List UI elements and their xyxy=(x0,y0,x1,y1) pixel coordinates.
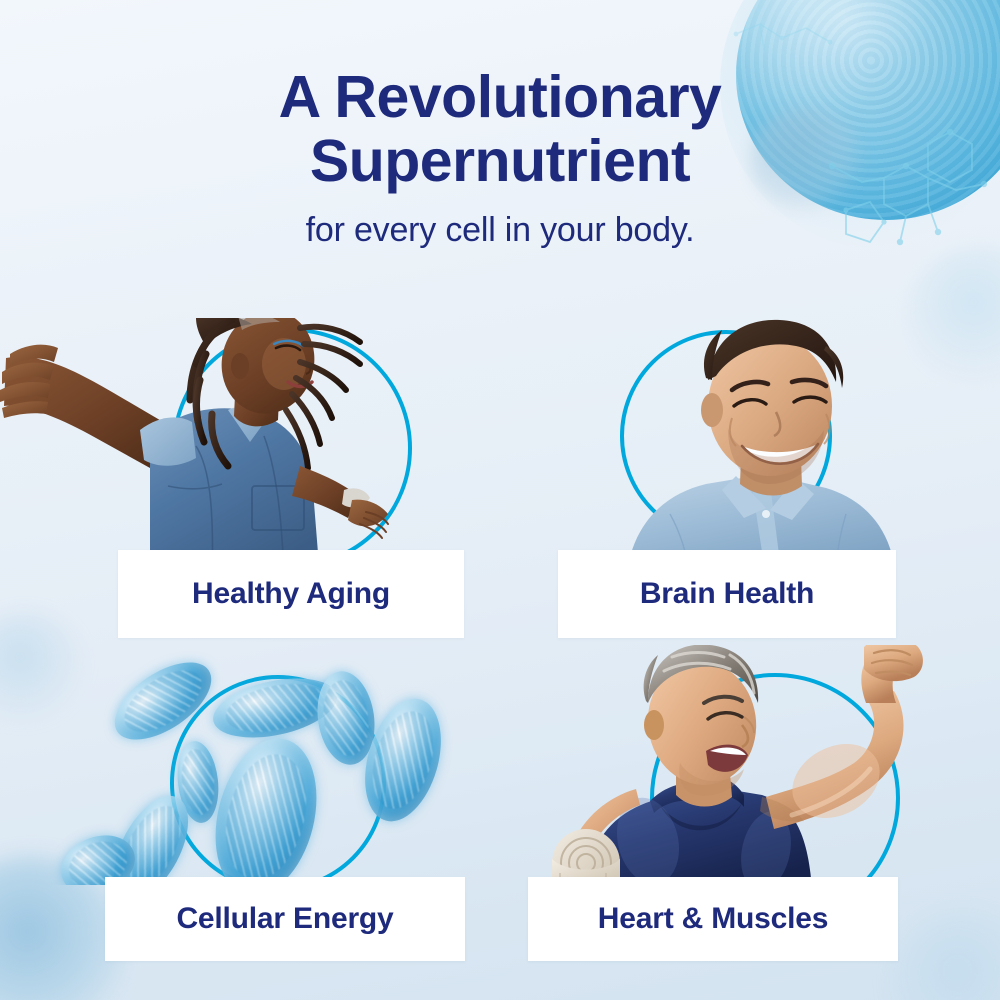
mitochondrion-icon xyxy=(102,647,225,755)
benefit-tile-cellular-energy[interactable]: Cellular Energy xyxy=(0,645,470,975)
benefit-photo-brain-health xyxy=(530,318,1000,578)
infographic-canvas: A Revolutionary Supernutrient for every … xyxy=(0,0,1000,1000)
benefit-label-card-healthy-aging[interactable]: Healthy Aging xyxy=(118,550,464,638)
headline-line-2: Supernutrient xyxy=(310,128,690,194)
headline-line-1: A Revolutionary xyxy=(279,64,722,130)
benefit-label-card-cellular-energy[interactable]: Cellular Energy xyxy=(105,877,465,961)
benefit-label-card-brain-health[interactable]: Brain Health xyxy=(558,550,896,638)
hero-header: A Revolutionary Supernutrient for every … xyxy=(0,0,1000,250)
mitochondrion-icon xyxy=(200,728,332,885)
page-title: A Revolutionary Supernutrient xyxy=(0,66,1000,193)
benefit-label-card-heart-muscles[interactable]: Heart & Muscles xyxy=(528,877,898,961)
benefit-photo-cellular-energy xyxy=(0,645,470,885)
page-subtitle: for every cell in your body. xyxy=(0,211,1000,250)
benefit-photo-heart-muscles xyxy=(530,645,1000,890)
benefit-label-text: Brain Health xyxy=(640,577,814,611)
benefit-label-text: Heart & Muscles xyxy=(598,902,828,936)
benefit-photo-healthy-aging xyxy=(0,318,470,578)
benefit-tile-healthy-aging[interactable]: Healthy Aging xyxy=(0,318,470,638)
benefit-tile-heart-muscles[interactable]: Heart & Muscles xyxy=(530,645,1000,975)
benefit-label-text: Healthy Aging xyxy=(192,577,390,611)
benefit-tile-brain-health[interactable]: Brain Health xyxy=(530,318,1000,638)
benefit-label-text: Cellular Energy xyxy=(176,902,393,936)
